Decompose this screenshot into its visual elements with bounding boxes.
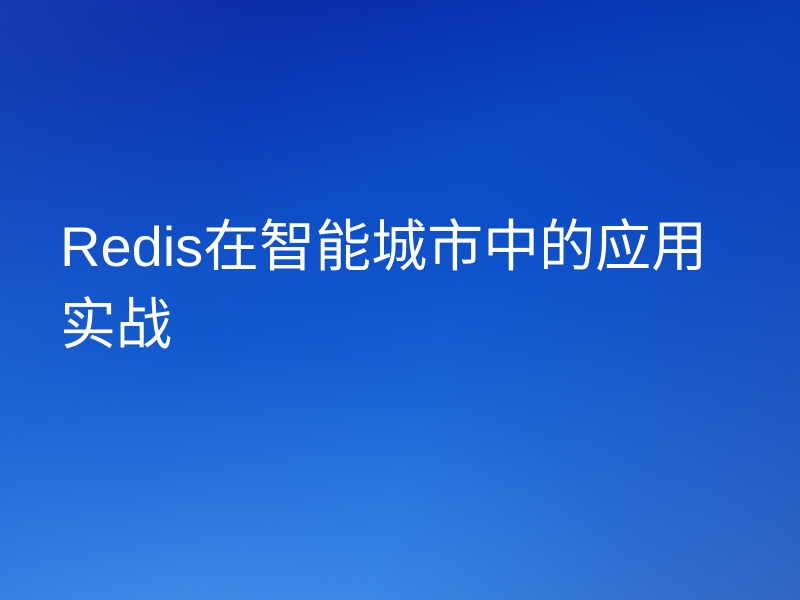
slide-title: Redis在智能城市中的应用实战: [60, 208, 720, 364]
title-slide: Redis在智能城市中的应用实战: [0, 0, 800, 600]
title-block: Redis在智能城市中的应用实战: [60, 208, 720, 364]
